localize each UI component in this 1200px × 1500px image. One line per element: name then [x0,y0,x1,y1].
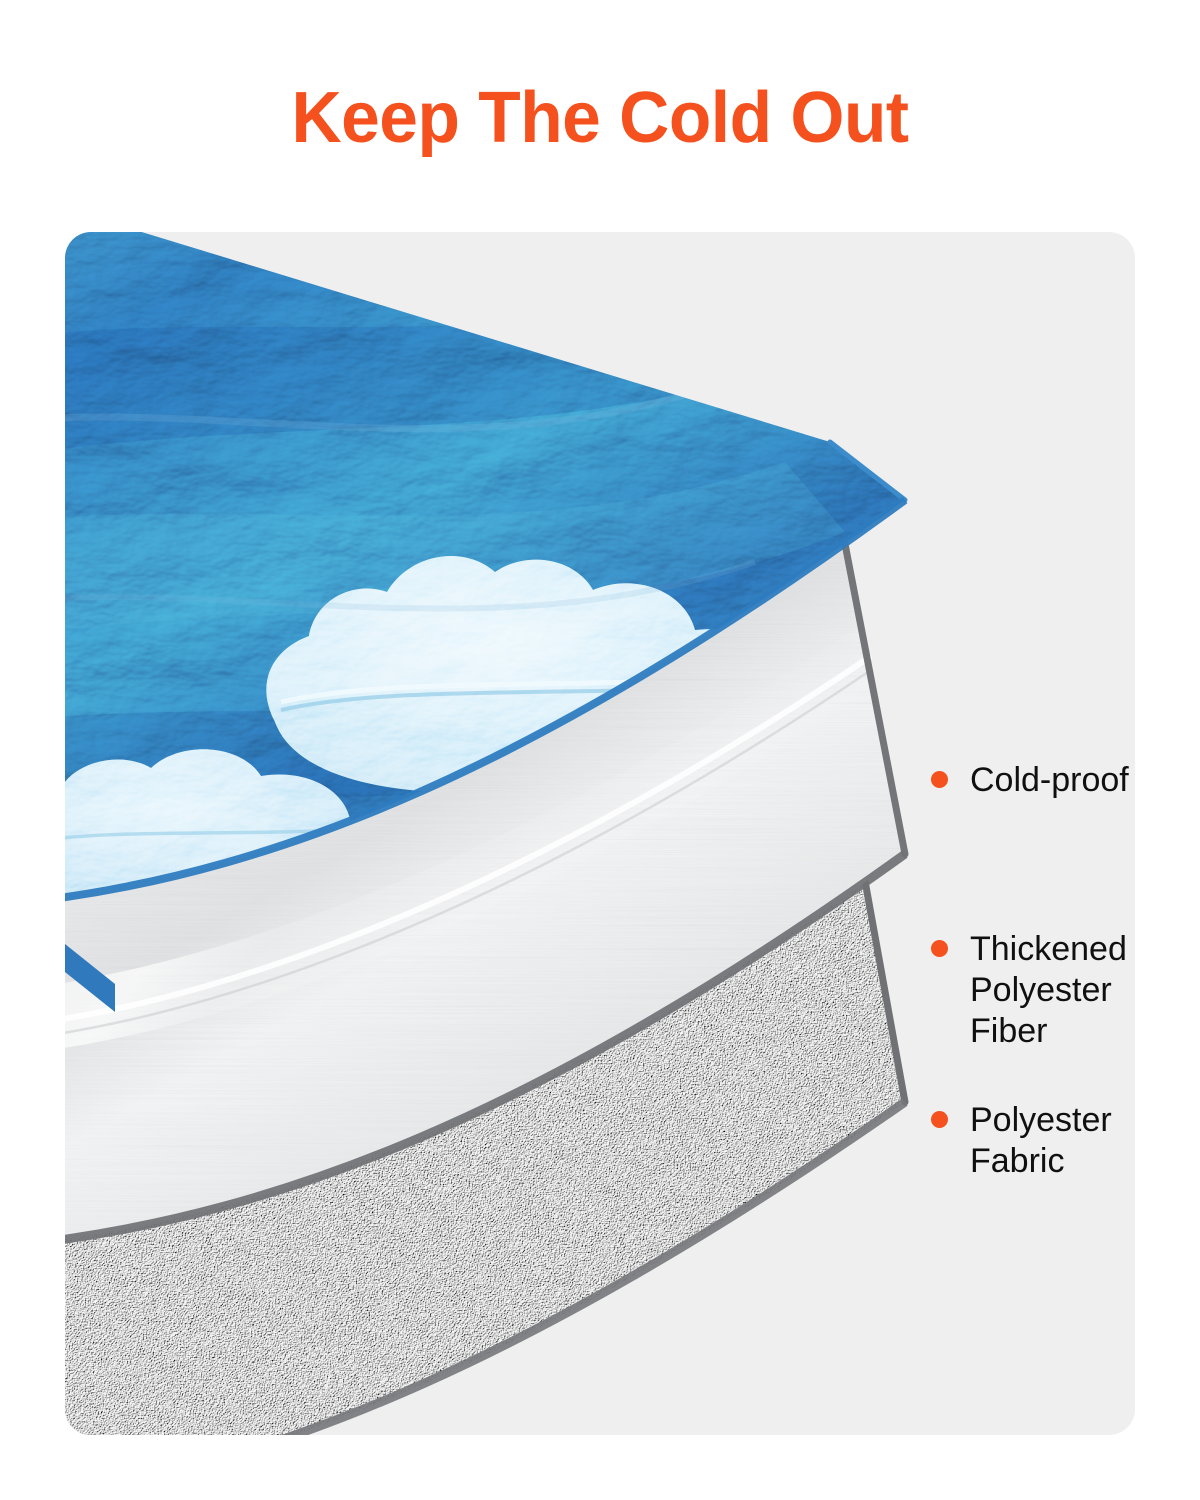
layer-stack-diagram [65,232,1135,1435]
callout-thickened-fiber: Thickened Polyester Fiber [931,929,1135,1052]
callout-polyester-fabric: Polyester Fabric [931,1100,1112,1182]
callout-label: Thickened Polyester Fiber [970,929,1135,1052]
page-title: Keep The Cold Out [21,78,1179,158]
bullet-dot-icon [931,771,948,788]
image-panel: Cold-proof Thickened Polyester Fiber Pol… [65,232,1135,1435]
callout-cold-proof: Cold-proof [931,760,1129,801]
bullet-dot-icon [931,940,948,957]
callout-label: Cold-proof [970,760,1129,801]
blue-printed-fabric-layer [65,232,1135,1435]
bullet-dot-icon [931,1111,948,1128]
callout-label: Polyester Fabric [970,1100,1112,1182]
product-feature-graphic: Keep The Cold Out [0,0,1200,1500]
